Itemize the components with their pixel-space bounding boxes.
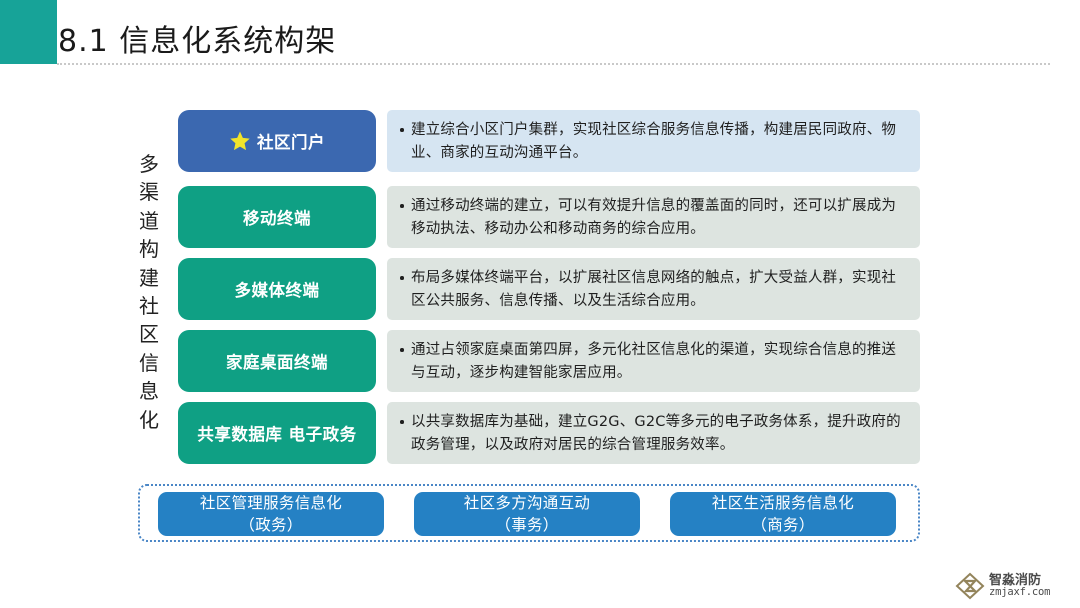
row-body-text: 建立综合小区门户集群，实现社区综合服务信息传播，构建居民同政府、物业、商家的互动… <box>399 119 906 166</box>
diagram-row: 社区门户 建立综合小区门户集群，实现社区综合服务信息传播，构建居民同政府、物业、… <box>178 110 920 172</box>
side-label-char: 化 <box>132 406 166 434</box>
side-label-char: 信 <box>132 349 166 377</box>
diagram-row: 多媒体终端 布局多媒体终端平台，以扩展社区信息网络的触点，扩大受益人群，实现社区… <box>178 258 920 320</box>
row-label-text: 社区门户 <box>257 129 325 153</box>
row-body-text: 以共享数据库为基础，建立G2G、G2C等多元的电子政务体系，提升政府的政务管理，… <box>399 411 906 458</box>
row-body-mobile-terminal: 通过移动终端的建立，可以有效提升信息的覆盖面的同时，还可以扩展成为移动执法、移动… <box>387 186 920 248</box>
page-title: 8.1 信息化系统构架 <box>58 16 336 60</box>
outcome-box-line2: （政务） <box>239 514 302 536</box>
watermark: 智淼消防 zmjaxf.com <box>955 570 1073 602</box>
row-body-community-portal: 建立综合小区门户集群，实现社区综合服务信息传播，构建居民同政府、物业、商家的互动… <box>387 110 920 172</box>
side-label-char: 渠 <box>132 178 166 206</box>
row-label-community-portal[interactable]: 社区门户 <box>178 110 376 172</box>
diagram-row: 共享数据库 电子政务 以共享数据库为基础，建立G2G、G2C等多元的电子政务体系… <box>178 402 920 464</box>
row-label-shared-database-egov[interactable]: 共享数据库 电子政务 <box>178 402 376 464</box>
outcome-box-governance[interactable]: 社区管理服务信息化 （政务） <box>158 492 384 536</box>
row-label-home-desktop-terminal[interactable]: 家庭桌面终端 <box>178 330 376 392</box>
side-label-char: 息 <box>132 377 166 405</box>
star-icon <box>229 130 251 152</box>
row-body-home-desktop-terminal: 通过占领家庭桌面第四屏，多元化社区信息化的渠道，实现综合信息的推送与互动，逐步构… <box>387 330 920 392</box>
row-label-multimedia-terminal[interactable]: 多媒体终端 <box>178 258 376 320</box>
outcome-box-line1: 社区管理服务信息化 <box>200 492 342 514</box>
row-label-text: 共享数据库 电子政务 <box>197 421 356 445</box>
outcome-box-commerce[interactable]: 社区生活服务信息化 （商务） <box>670 492 896 536</box>
header-divider <box>57 63 1050 65</box>
row-body-text: 通过移动终端的建立，可以有效提升信息的覆盖面的同时，还可以扩展成为移动执法、移动… <box>399 195 906 242</box>
row-label-text: 移动终端 <box>243 205 311 229</box>
header-accent-bar <box>0 0 57 64</box>
diagram-row: 家庭桌面终端 通过占领家庭桌面第四屏，多元化社区信息化的渠道，实现综合信息的推送… <box>178 330 920 392</box>
outcome-box-line1: 社区生活服务信息化 <box>712 492 854 514</box>
row-body-multimedia-terminal: 布局多媒体终端平台，以扩展社区信息网络的触点，扩大受益人群，实现社区公共服务、信… <box>387 258 920 320</box>
side-label-char: 建 <box>132 264 166 292</box>
diagram-row: 移动终端 通过移动终端的建立，可以有效提升信息的覆盖面的同时，还可以扩展成为移动… <box>178 186 920 248</box>
watermark-brand: 智淼消防 <box>989 574 1050 588</box>
side-label-char: 社 <box>132 292 166 320</box>
watermark-url: zmjaxf.com <box>989 587 1050 598</box>
row-label-text: 家庭桌面终端 <box>226 349 328 373</box>
side-label-char: 多 <box>132 150 166 178</box>
watermark-text: 智淼消防 zmjaxf.com <box>989 574 1050 599</box>
outcome-box-line2: （商务） <box>751 514 814 536</box>
outcome-box-affairs[interactable]: 社区多方沟通互动 （事务） <box>414 492 640 536</box>
slide-header: 8.1 信息化系统构架 <box>0 0 1080 70</box>
side-label-char: 区 <box>132 320 166 348</box>
row-body-text: 通过占领家庭桌面第四屏，多元化社区信息化的渠道，实现综合信息的推送与互动，逐步构… <box>399 339 906 386</box>
side-label-char: 道 <box>132 207 166 235</box>
row-label-text: 多媒体终端 <box>235 277 320 301</box>
row-label-mobile-terminal[interactable]: 移动终端 <box>178 186 376 248</box>
vertical-axis-label: 多 渠 道 构 建 社 区 信 息 化 <box>132 150 166 434</box>
outcome-box-line1: 社区多方沟通互动 <box>464 492 590 514</box>
outcome-group-container: 社区管理服务信息化 （政务） 社区多方沟通互动 （事务） 社区生活服务信息化 （… <box>138 484 920 542</box>
side-label-char: 构 <box>132 235 166 263</box>
row-body-shared-database-egov: 以共享数据库为基础，建立G2G、G2C等多元的电子政务体系，提升政府的政务管理，… <box>387 402 920 464</box>
outcome-box-line2: （事务） <box>495 514 558 536</box>
diamond-logo-icon <box>955 572 985 600</box>
row-body-text: 布局多媒体终端平台，以扩展社区信息网络的触点，扩大受益人群，实现社区公共服务、信… <box>399 267 906 314</box>
